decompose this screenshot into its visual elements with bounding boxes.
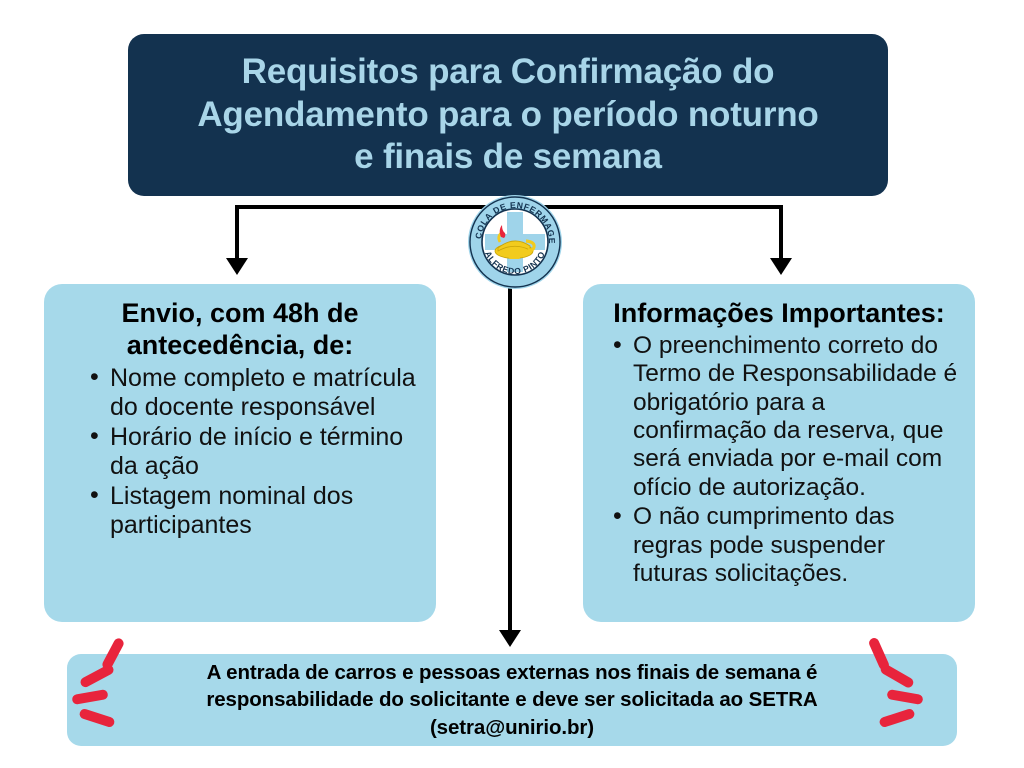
title-line-2: Agendamento para o período noturno xyxy=(197,94,818,137)
title-banner: Requisitos para Confirmação do Agendamen… xyxy=(128,34,888,196)
left-requirements-box: Envio, com 48h de antecedência, de: Nome… xyxy=(44,284,436,622)
title-text: Requisitos para Confirmação do Agendamen… xyxy=(197,51,818,179)
connector-left-arrowhead xyxy=(226,258,248,275)
left-box-heading-line-1: Envio, com 48h de xyxy=(60,298,420,330)
connector-center-stem xyxy=(508,286,512,631)
right-information-box: Informações Importantes: O preenchimento… xyxy=(583,284,975,622)
list-item: O preenchimento correto do Termo de Resp… xyxy=(607,332,959,502)
right-box-heading: Informações Importantes: xyxy=(599,298,959,330)
list-item: Listagem nominal dos participantes xyxy=(84,482,420,540)
connector-left-stem xyxy=(235,205,239,259)
list-item: O não cumprimento das regras pode suspen… xyxy=(607,503,959,588)
connector-center-arrowhead xyxy=(499,630,521,647)
connector-right-stem xyxy=(779,205,783,259)
title-line-3: e finais de semana xyxy=(197,136,818,179)
bottom-notice-line-3: (setra@unirio.br) xyxy=(206,714,817,741)
left-box-heading-line-2: antecedência, de: xyxy=(60,330,420,362)
escola-de-enfermagem-logo-icon: ESCOLA DE ENFERMAGEM ALFREDO PINTO xyxy=(468,195,562,289)
bottom-notice-text: A entrada de carros e pessoas externas n… xyxy=(206,659,817,740)
list-item: Nome completo e matrícula do docente res… xyxy=(84,364,420,422)
right-box-list: O preenchimento correto do Termo de Resp… xyxy=(599,332,959,589)
bottom-notice-line-2: responsabilidade do solicitante e deve s… xyxy=(206,686,817,713)
bottom-notice-line-1: A entrada de carros e pessoas externas n… xyxy=(206,659,817,686)
infographic-canvas: Requisitos para Confirmação do Agendamen… xyxy=(0,0,1024,768)
connector-right-arrowhead xyxy=(770,258,792,275)
bottom-notice-banner: A entrada de carros e pessoas externas n… xyxy=(67,654,957,746)
left-box-heading: Envio, com 48h de antecedência, de: xyxy=(60,298,420,362)
left-box-list: Nome completo e matrícula do docente res… xyxy=(60,364,420,540)
title-line-1: Requisitos para Confirmação do xyxy=(197,51,818,94)
list-item: Horário de início e término da ação xyxy=(84,423,420,481)
